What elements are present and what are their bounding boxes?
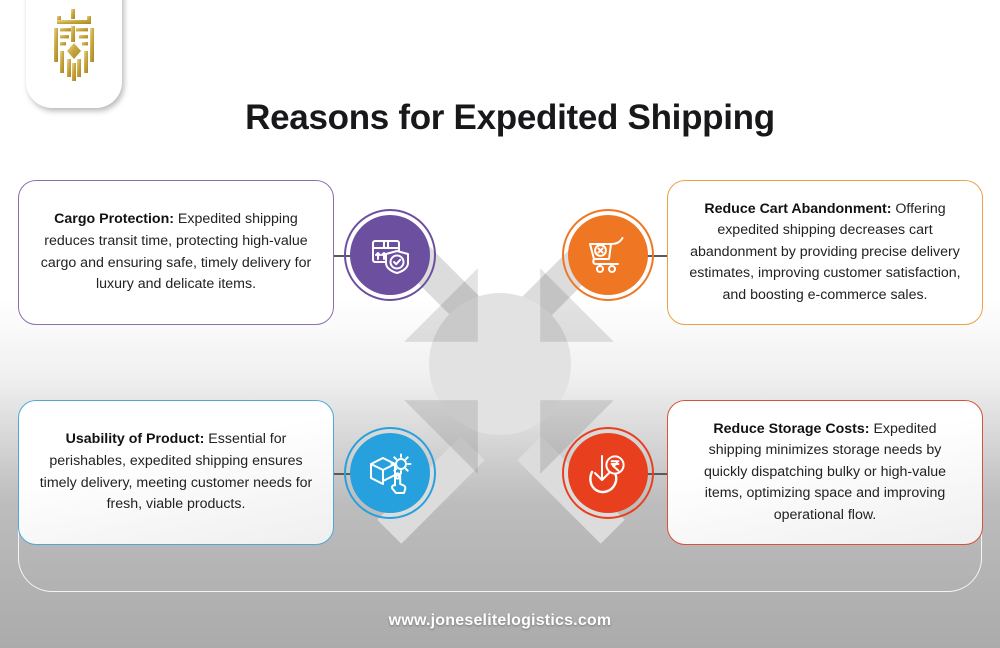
company-crest-logo-icon: [43, 7, 105, 85]
icon-badge-reduce-cart-abandonment[interactable]: [568, 215, 648, 295]
info-card-text: Reduce Storage Costs: Expedited shipping…: [686, 419, 964, 527]
info-card-cargo-protection: Cargo Protection: Expedited shipping red…: [18, 180, 334, 325]
box-gear-touch-icon: [366, 450, 414, 496]
info-card-heading: Usability of Product:: [66, 431, 205, 447]
info-card-text: Reduce Cart Abandonment: Offering expedi…: [686, 199, 964, 307]
icon-badge-usability-of-product[interactable]: [350, 433, 430, 513]
info-card-heading: Reduce Cart Abandonment:: [704, 201, 891, 217]
info-card-reduce-storage-costs: Reduce Storage Costs: Expedited shipping…: [667, 400, 983, 545]
info-card-reduce-cart-abandonment: Reduce Cart Abandonment: Offering expedi…: [667, 180, 983, 325]
arrow-down-rupee-icon: [585, 450, 631, 496]
icon-badge-reduce-storage-costs[interactable]: [568, 433, 648, 513]
footer-website-url[interactable]: www.joneselitelogistics.com: [0, 612, 1000, 630]
info-card-text: Usability of Product: Essential for peri…: [37, 429, 315, 515]
info-card-heading: Cargo Protection:: [54, 211, 174, 227]
page-title: Reasons for Expedited Shipping: [150, 98, 870, 138]
box-shield-check-icon: [367, 232, 413, 278]
brand-logo-card: [26, 0, 122, 108]
infographic-canvas: Reasons for Expedited Shipping: [0, 0, 1000, 648]
icon-badge-cargo-protection[interactable]: [350, 215, 430, 295]
info-card-text: Cargo Protection: Expedited shipping red…: [37, 209, 315, 295]
info-card-heading: Reduce Storage Costs:: [713, 421, 869, 437]
shopping-cart-remove-icon: [584, 232, 632, 278]
info-card-usability-of-product: Usability of Product: Essential for peri…: [18, 400, 334, 545]
